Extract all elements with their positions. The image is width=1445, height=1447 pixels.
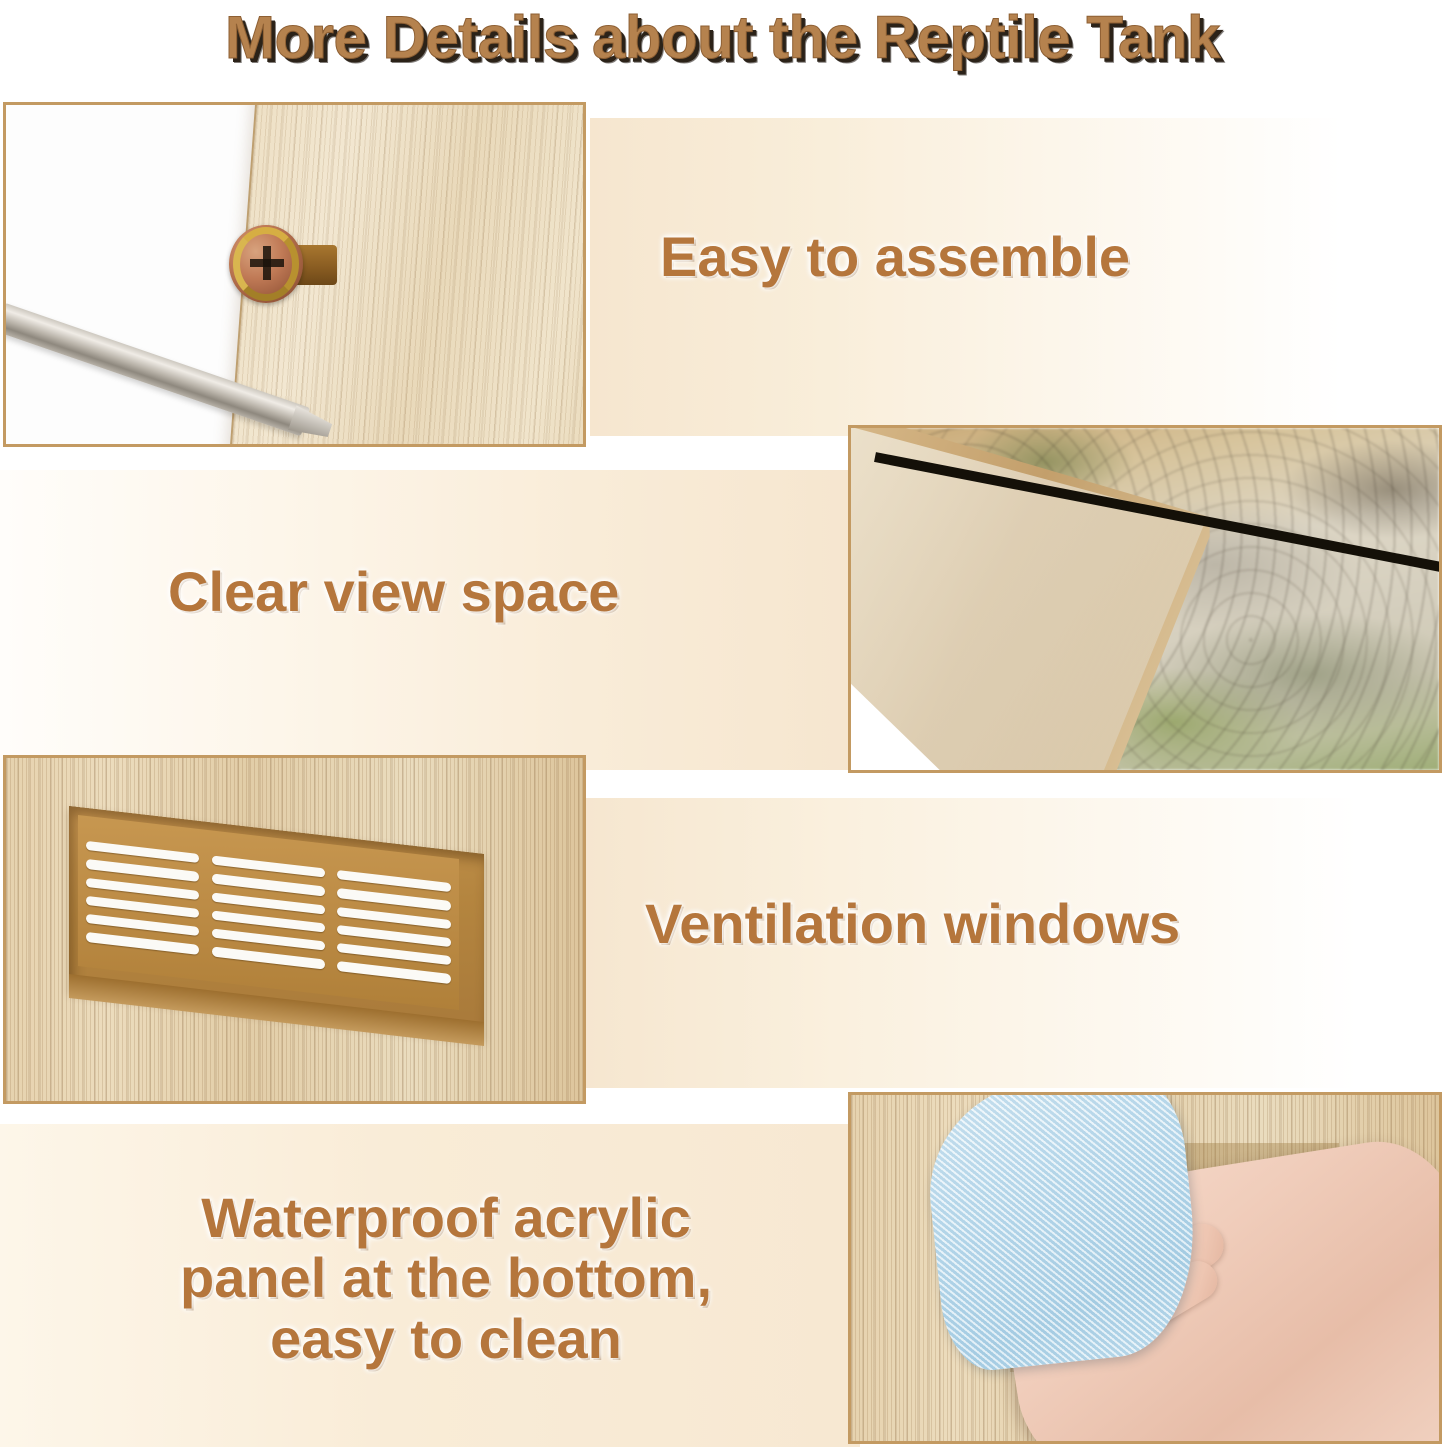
feature-photo-easy-to-assemble [3, 102, 586, 447]
vent-slot [338, 961, 451, 983]
vent-slot [338, 888, 451, 910]
vent-slot [338, 925, 451, 947]
vent-slot [212, 910, 325, 932]
vent-slot [212, 855, 325, 877]
vent-slot [212, 929, 325, 951]
feature-label-easy-to-assemble: Easy to assemble [660, 228, 1130, 285]
screw-phillips-slot [247, 245, 287, 281]
feature-label-clear-view-space: Clear view space [168, 563, 619, 620]
screw [229, 225, 303, 303]
vent-slot [338, 907, 451, 929]
vent-slot [86, 932, 199, 954]
vent-slot [338, 943, 451, 965]
vent-slot [86, 896, 199, 918]
infographic-canvas: More Details about the Reptile Tank [0, 0, 1445, 1447]
vent-slot [212, 874, 325, 896]
vent-column [212, 837, 325, 987]
vent-slot [86, 841, 199, 863]
feature-label-waterproof-acrylic: Waterproof acrylic panel at the bottom, … [96, 1188, 796, 1369]
page-title: More Details about the Reptile Tank [0, 0, 1445, 76]
feature-label-ventilation-windows: Ventilation windows [645, 895, 1180, 952]
feature-photo-clear-view-space [848, 425, 1442, 773]
vent-column [338, 852, 451, 1002]
vent-slot [338, 870, 451, 892]
feature-photo-waterproof-acrylic [848, 1092, 1442, 1444]
feature-photo-ventilation-windows [3, 755, 586, 1104]
vent-slot [86, 877, 199, 899]
vent-slot [212, 892, 325, 914]
vent-slot [212, 947, 325, 969]
vent-slot [86, 859, 199, 881]
vent-slot [86, 914, 199, 936]
vent-column [86, 823, 199, 973]
